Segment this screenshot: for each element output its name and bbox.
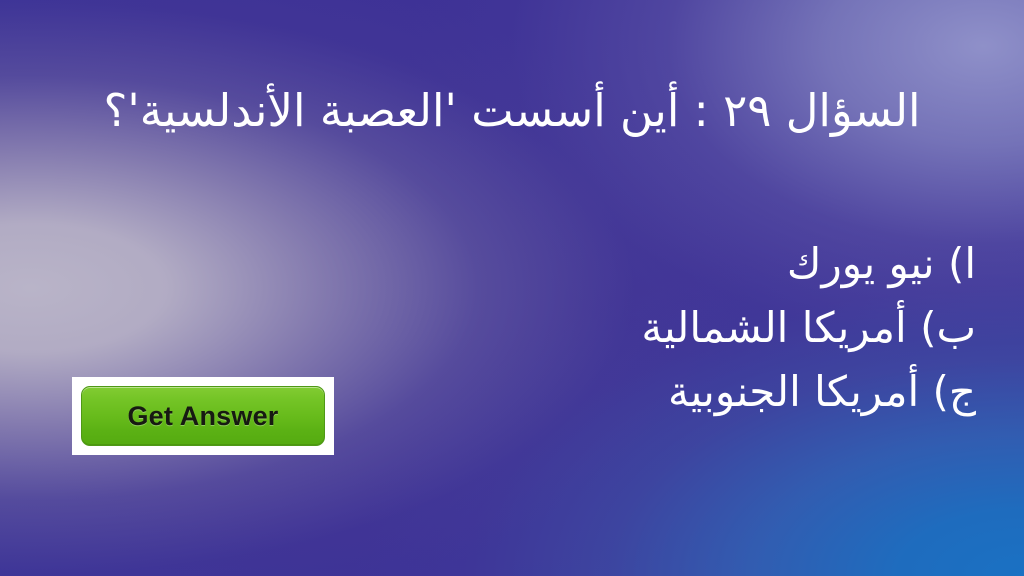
answer-options-list: ا) نيو يورك ب) أمريكا الشمالية ج) أمريكا…	[641, 232, 976, 423]
get-answer-button[interactable]: Get Answer	[81, 386, 325, 446]
answer-option-c[interactable]: ج) أمريكا الجنوبية	[641, 360, 976, 424]
answer-option-a[interactable]: ا) نيو يورك	[641, 232, 976, 296]
quiz-slide: السؤال ٢٩ : أين أسست 'العصبة الأندلسية'؟…	[0, 0, 1024, 576]
question-title: السؤال ٢٩ : أين أسست 'العصبة الأندلسية'؟	[0, 84, 1024, 137]
answer-option-b[interactable]: ب) أمريكا الشمالية	[641, 296, 976, 360]
get-answer-button-label: Get Answer	[127, 401, 278, 432]
get-answer-button-frame: Get Answer	[72, 377, 334, 455]
